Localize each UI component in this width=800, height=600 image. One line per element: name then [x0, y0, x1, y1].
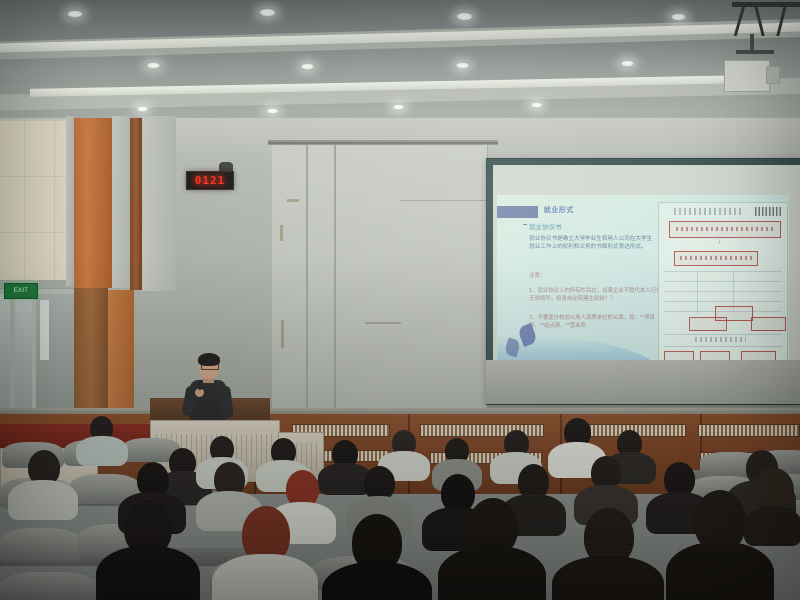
- downlight-icon: [392, 104, 405, 110]
- downlight-icon: [530, 102, 543, 108]
- form-arrow-icon: ↓: [718, 238, 722, 245]
- slide-note-1: 1、就业协议上的所有栏目在，如果企业不愿代本人行使无须填写，权责自动流建生原始？…: [529, 287, 663, 304]
- form-rule: [664, 334, 782, 335]
- board-smudge: [400, 200, 490, 201]
- form-rule: [664, 291, 782, 292]
- audience-member-foreground: [322, 514, 432, 600]
- form-annotation-box-5: [751, 317, 786, 331]
- radiator-grille: [698, 424, 800, 437]
- slide-form-image: ↓: [658, 202, 788, 370]
- auditorium-seat[interactable]: [0, 572, 96, 600]
- shoulders: [96, 546, 200, 600]
- form-footer-label: [695, 337, 746, 342]
- slide-note-header: 注意：: [529, 272, 663, 281]
- sliding-board-panel-3[interactable]: [335, 145, 488, 417]
- wall-tile-panel: [0, 120, 66, 280]
- audience-member-foreground: [552, 508, 664, 600]
- ceiling-projector: [714, 0, 800, 100]
- form-barcode-icon: [755, 207, 783, 216]
- projector-truss-diagonal: [734, 6, 746, 36]
- slide-title: 就业形式: [544, 205, 574, 215]
- downlight-icon: [258, 8, 277, 17]
- board-seam: [306, 145, 308, 417]
- board-smudge: [365, 322, 401, 324]
- exit-sign: EXIT: [4, 283, 38, 299]
- form-rule: [664, 346, 782, 347]
- exit-sign-label: EXIT: [14, 288, 29, 294]
- shoulders: [666, 542, 774, 600]
- projector-truss-diagonal: [754, 6, 764, 36]
- led-clock: 0121: [186, 171, 234, 190]
- clock-digits: 0121: [195, 174, 226, 187]
- sliding-board-panel-2[interactable]: [307, 145, 336, 417]
- audience-member: [8, 450, 78, 512]
- downlight-icon: [455, 62, 470, 69]
- shoulders: [744, 506, 800, 546]
- projector-lens: [766, 66, 780, 84]
- form-header-text: [674, 208, 741, 215]
- projector-truss-diagonal: [776, 6, 786, 36]
- wood-column-left: [74, 118, 112, 288]
- form-annotation-box-4: [689, 317, 727, 331]
- auditorium-seat[interactable]: [0, 528, 82, 562]
- downlight-icon: [146, 62, 161, 69]
- shoulders: [322, 562, 432, 600]
- shoulders: [8, 480, 78, 520]
- sliding-board-panel-1[interactable]: [272, 145, 308, 417]
- audience-member-foreground: [96, 500, 200, 600]
- audience-member-foreground: [744, 468, 800, 538]
- slide-paragraph: 就业协议书是确立大学毕业生和用人公司在大学生就业工作上的权利和义务的书面形式表达…: [529, 235, 657, 252]
- downlight-icon: [136, 106, 149, 112]
- projector-bracket: [736, 50, 774, 54]
- form-annotation-box-1: [669, 221, 781, 238]
- slide-note-2: 2、不要盖分校验公用人资质单位的公章，如：**项目部、**站点部、**营业所: [529, 314, 663, 331]
- board-marking: [287, 199, 299, 202]
- glasses-icon: [201, 364, 219, 370]
- form-rule: [664, 301, 782, 302]
- slide-bullet-heading: 就业协议书: [529, 221, 562, 231]
- audience-member-foreground: [438, 498, 546, 600]
- form-annotation-box-2: [674, 251, 758, 266]
- downlight-icon: [670, 13, 687, 21]
- board-marking: [280, 225, 283, 241]
- downlight-icon: [620, 60, 635, 67]
- wood-column-narrow: [130, 118, 142, 290]
- door-window-bright: [40, 300, 49, 360]
- audience-member: [76, 416, 128, 462]
- downlight-icon: [455, 12, 474, 21]
- audience-member-foreground: [212, 506, 318, 600]
- screen-lower-apron: [486, 360, 800, 404]
- slide-title-accent-bar: [497, 206, 538, 219]
- shoulders: [552, 556, 664, 600]
- downlight-icon: [266, 108, 279, 114]
- microphone-icon: [198, 380, 202, 390]
- lecture-hall-photo: 0121 EXIT 就业形式 就业协议书 就业协议书是确立大学毕业生和用人公司在…: [0, 0, 800, 600]
- form-rule: [664, 271, 782, 272]
- projector-body: [724, 60, 770, 92]
- form-column-rule: [697, 271, 698, 314]
- board-seam: [334, 145, 336, 417]
- downlight-icon: [66, 10, 84, 18]
- shoulders: [212, 554, 318, 600]
- board-marking: [281, 320, 284, 348]
- projected-slide: 就业形式 就业协议书 就业协议书是确立大学毕业生和用人公司在大学生就业工作上的权…: [497, 195, 789, 375]
- shoulders: [438, 546, 546, 600]
- presenter: [180, 352, 240, 430]
- wall-panel-grey: [142, 116, 176, 291]
- downlight-icon: [300, 63, 315, 70]
- wall-divider-strip: [112, 116, 130, 288]
- form-rule: [664, 281, 782, 282]
